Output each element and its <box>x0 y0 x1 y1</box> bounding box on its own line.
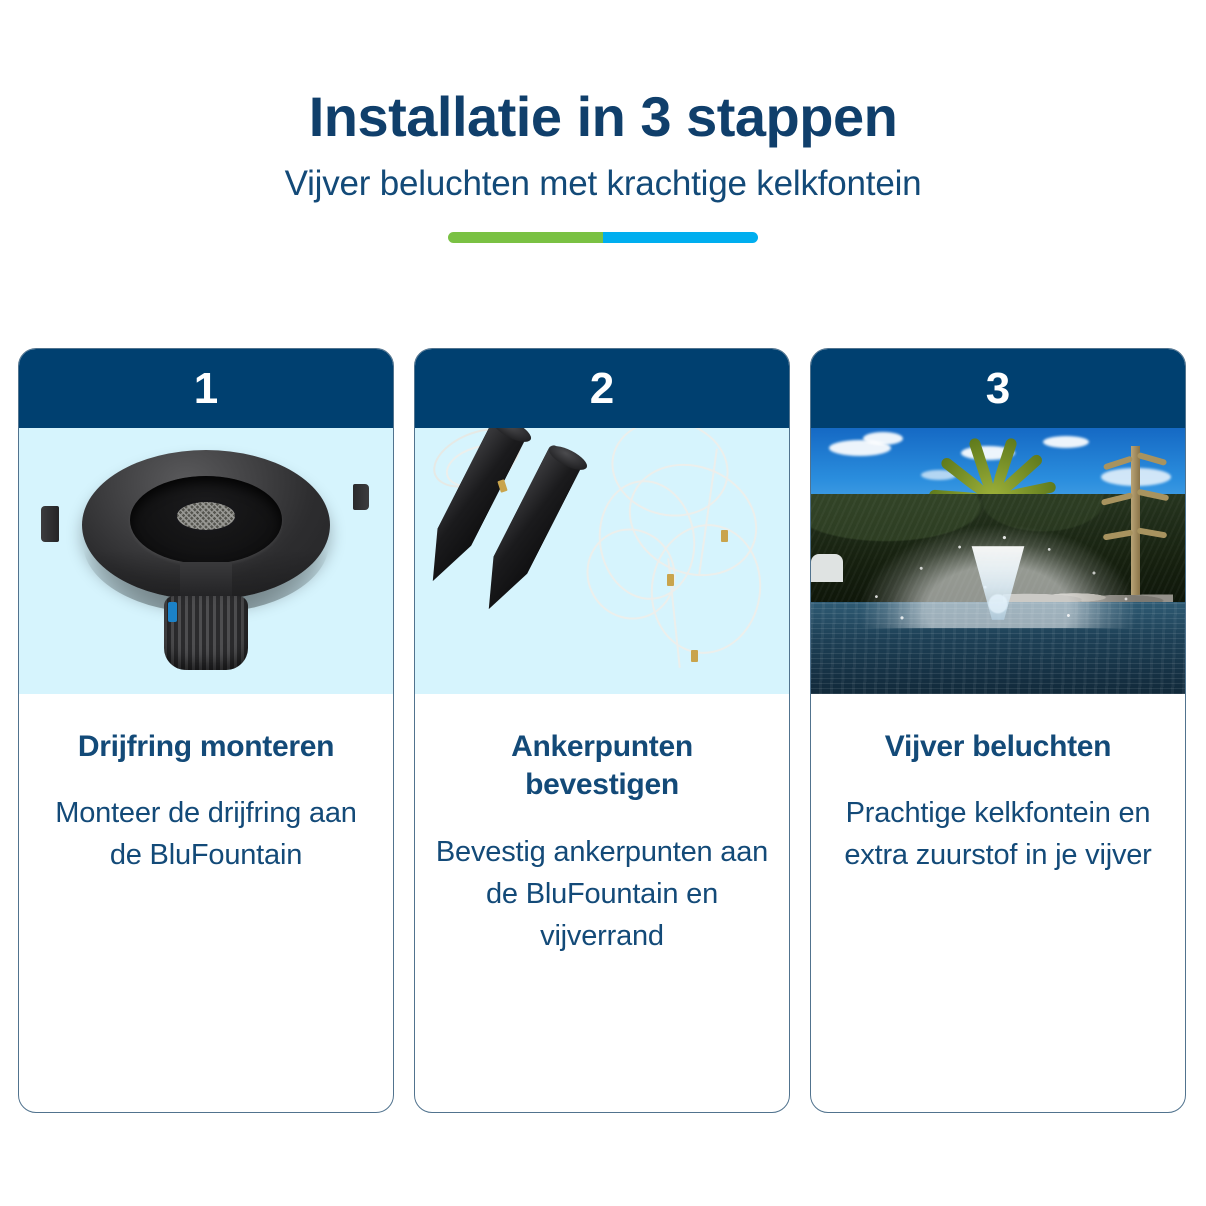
step-card-1-image <box>19 428 393 694</box>
header: Installatie in 3 stappen Vijver beluchte… <box>0 88 1206 243</box>
step-card-1-header: 1 <box>19 349 393 428</box>
ring-mesh-grille <box>175 500 237 532</box>
step-number-badge: 2 <box>590 367 614 411</box>
rope-metal-tip <box>721 530 728 542</box>
cloud <box>1043 436 1089 448</box>
step-number-badge: 1 <box>194 367 218 411</box>
anchor-stakes-icon <box>415 428 789 694</box>
tree-branch <box>1137 489 1170 502</box>
rope-metal-tip <box>667 574 674 586</box>
step-card-2[interactable]: 2 <box>414 348 790 1113</box>
step-card-3-body: Vijver beluchten Prachtige kelkfontein e… <box>811 694 1185 1112</box>
step-card-2-body: Ankerpunten bevestigen Bevestig ankerpun… <box>415 694 789 1112</box>
step-card-1[interactable]: 1 Drijfring monteren Monteer de drijfrin… <box>18 348 394 1113</box>
accent-divider-bar <box>448 232 758 243</box>
floating-ring-icon <box>19 428 393 694</box>
step-card-1-title: Drijfring monteren <box>39 728 373 766</box>
tree-branch <box>1101 492 1134 506</box>
tree-branch <box>1137 452 1167 466</box>
step-card-3-description: Prachtige kelkfontein en extra zuurstof … <box>831 792 1165 876</box>
divider-green-segment <box>448 232 603 243</box>
step-card-2-description: Bevestig ankerpunten aan de BluFountain … <box>435 831 769 957</box>
ring-left-tab <box>41 506 59 542</box>
pump-housing <box>164 596 248 670</box>
step-number-badge: 3 <box>986 367 1010 411</box>
cloud <box>863 432 903 445</box>
step-card-3-header: 3 <box>811 349 1185 428</box>
rope-metal-tip <box>691 650 698 662</box>
ring-front-clip <box>180 562 232 599</box>
steps-card-row: 1 Drijfring monteren Monteer de drijfrin… <box>18 348 1188 1113</box>
step-card-2-title: Ankerpunten bevestigen <box>435 728 769 805</box>
pond-fountain-photo <box>811 428 1185 694</box>
tree-branch <box>1103 456 1133 471</box>
ring-right-tab <box>353 484 369 510</box>
divider-blue-segment <box>603 232 758 243</box>
step-card-2-header: 2 <box>415 349 789 428</box>
installation-steps-infographic: Installatie in 3 stappen Vijver beluchte… <box>0 0 1206 1206</box>
page-title: Installatie in 3 stappen <box>0 88 1206 147</box>
step-card-1-description: Monteer de drijfring aan de BluFountain <box>39 792 373 876</box>
step-card-2-image <box>415 428 789 694</box>
step-card-3-title: Vijver beluchten <box>831 728 1165 766</box>
step-card-1-body: Drijfring monteren Monteer de drijfring … <box>19 694 393 1112</box>
step-card-3[interactable]: 3 <box>810 348 1186 1113</box>
page-subtitle: Vijver beluchten met krachtige kelkfonte… <box>0 165 1206 204</box>
step-card-3-image <box>811 428 1185 694</box>
